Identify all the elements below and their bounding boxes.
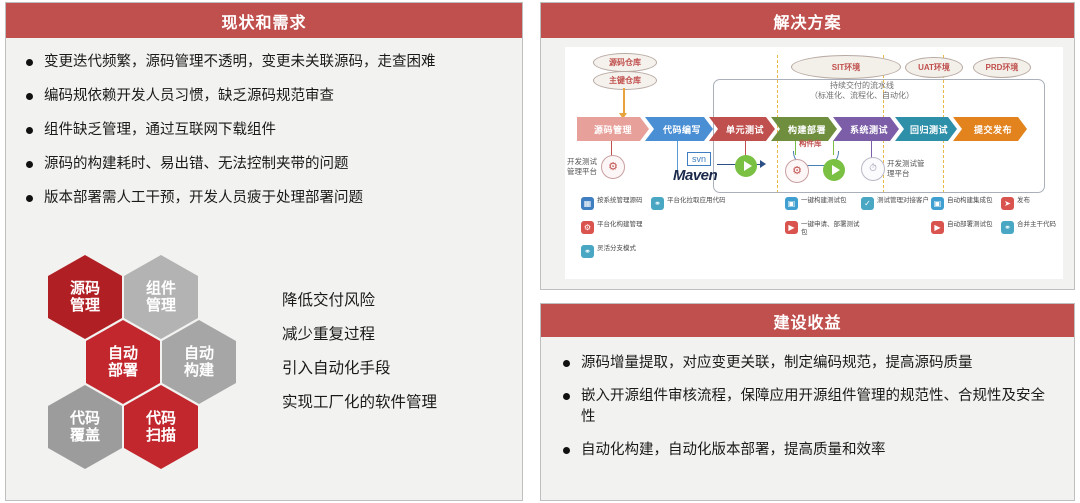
legend-item-merge-trunk-code: ⚭ 合并主干代码 xyxy=(1001,221,1056,234)
branch-icon: ⚭ xyxy=(651,197,664,210)
hexagon-label-line2: 管理 xyxy=(146,297,176,314)
dev-test-platform-label-left: 开发测试管理平台 xyxy=(567,157,601,177)
send-icon: ➤ xyxy=(1001,197,1014,210)
legend-label: 平台化拉取应用代码 xyxy=(667,197,726,205)
gauge-icon-system-test: ⏱ xyxy=(861,157,885,181)
stage-build-deploy[interactable]: 构建部署 xyxy=(771,117,837,141)
list-item: 变更迭代频繁，源码管理不透明，变更未关联源码，走查困难 xyxy=(24,52,504,73)
branch-icon: ⚭ xyxy=(581,245,594,258)
legend-label: 按系统管理源码 xyxy=(597,197,643,205)
list-item: 版本部署需人工干预，开发人员疲于处理部署问题 xyxy=(24,188,504,209)
gear-glyph: ⚙ xyxy=(608,162,618,173)
legend-label: 一键构建测试包 xyxy=(801,197,847,205)
hexagon-source-code-management: 源码 管理 xyxy=(48,255,122,339)
value-item: 引入自动化手段 xyxy=(282,356,512,378)
stage-source-code-management[interactable]: 源码管理 xyxy=(577,117,649,141)
continuous-delivery-label-line2: （标准化、流程化、自动化） xyxy=(777,91,947,101)
list-item: 嵌入开源组件审核流程，保障应用开源组件管理的规范性、合规性及安全性 xyxy=(561,386,1052,428)
list-item: 源码增量提取，对应变更关联，制定编码规范，提高源码质量 xyxy=(561,353,1052,374)
maven-arrowhead xyxy=(760,160,766,168)
legend-label: 自动构建集成包 xyxy=(947,197,993,205)
gear-icon-dev-test-platform-left: ⚙ xyxy=(601,155,625,179)
panel-solution-title: 解决方案 xyxy=(541,3,1074,38)
legend-label: 测试管理对接客户 xyxy=(877,197,929,205)
cicd-pipeline-diagram: SIT环境 UAT环境 PRD环境 源码仓库 主键仓库 持续交付的流水线 （标准… xyxy=(565,47,1063,279)
env-badge-prd: PRD环境 xyxy=(973,57,1031,78)
panel-benefit-body: 源码增量提取，对应变更关联，制定编码规范，提高源码质量 嵌入开源组件审核流程，保… xyxy=(541,337,1074,461)
play-glyph xyxy=(744,161,752,171)
panel-solution: 解决方案 SIT环境 UAT环境 PRD环境 源码仓库 主键仓库 持续交付的流水… xyxy=(540,2,1075,290)
stage-system-test[interactable]: 系统测试 xyxy=(833,117,899,141)
play-icon-build xyxy=(823,159,845,181)
panel-benefit: 建设收益 源码增量提取，对应变更关联，制定编码规范，提高源码质量 嵌入开源组件审… xyxy=(540,303,1075,501)
hexagon-code-coverage: 代码 覆盖 xyxy=(48,385,122,469)
legend-label: 自动部署测试包 xyxy=(947,221,993,229)
list-item: 组件缺乏管理，通过互联网下载组件 xyxy=(24,120,504,141)
check-icon: ✓ xyxy=(861,197,874,210)
repo-badge-key: 主键仓库 xyxy=(593,71,657,90)
legend-item-platform-pull-app-code: ⚭ 平台化拉取应用代码 xyxy=(651,197,726,210)
value-item: 减少重复过程 xyxy=(282,322,512,344)
hexagon-label-line2: 覆盖 xyxy=(70,427,100,444)
deploy-icon: ▶ xyxy=(931,221,944,234)
panel-solution-body: SIT环境 UAT环境 PRD环境 源码仓库 主键仓库 持续交付的流水线 （标准… xyxy=(541,38,1074,279)
grid-icon: ▦ xyxy=(581,197,594,210)
pipeline-stage-chain: 源码管理 代码编写 单元测试 构建部署 系统测试 回归测试 提交发布 xyxy=(577,117,1023,141)
list-item: 编码规依赖开发人员习惯，缺乏源码规范审查 xyxy=(24,86,504,107)
merge-icon: ⚭ xyxy=(1001,221,1014,234)
legend-item-auto-deploy-test-package: ▶ 自动部署测试包 xyxy=(931,221,993,234)
hexagon-label-line1: 自动 xyxy=(108,345,138,362)
legend-label: 合并主干代码 xyxy=(1017,221,1056,229)
legend-label: 发布 xyxy=(1017,197,1030,205)
legend-item-flexible-branching: ⚭ 灵活分支模式 xyxy=(581,245,636,258)
play-glyph xyxy=(832,165,840,175)
hexagon-label-line2: 管理 xyxy=(70,297,100,314)
panel-benefit-title: 建设收益 xyxy=(541,304,1074,337)
hexagon-cluster-diagram: 源码 管理 组件 管理 自动 部署 自动 构建 代码 覆盖 代码 扫描 xyxy=(36,249,266,484)
hexagon-label-line1: 代码 xyxy=(146,410,176,427)
continuous-delivery-label-line1: 持续交付的流水线 xyxy=(777,81,947,91)
env-badge-uat: UAT环境 xyxy=(905,57,963,78)
value-item: 降低交付风险 xyxy=(282,288,512,310)
repo-connector-line xyxy=(623,88,625,116)
legend-item-release: ➤ 发布 xyxy=(1001,197,1030,210)
deploy-icon: ▶ xyxy=(785,221,798,234)
stage-code-writing[interactable]: 代码编写 xyxy=(645,117,713,141)
gear-icon-build: ⚙ xyxy=(785,159,809,183)
legend-label: 灵活分支模式 xyxy=(597,245,636,253)
package-icon: ▣ xyxy=(931,197,944,210)
panel-current-status-title: 现状和需求 xyxy=(6,3,522,38)
gear-glyph: ⚙ xyxy=(792,166,802,177)
legend-label: 平台化构建管理 xyxy=(597,221,643,229)
hexagon-auto-deploy: 自动 部署 xyxy=(86,320,160,404)
legend-label: 一键申请、部署测试包 xyxy=(801,221,863,238)
legend-item-one-click-build-test-package: ▣ 一键构建测试包 xyxy=(785,197,847,210)
hexagon-component-management: 组件 管理 xyxy=(124,255,198,339)
build-repo-label: 构件库 xyxy=(799,139,822,149)
hexagon-code-scan: 代码 扫描 xyxy=(124,385,198,469)
stage-unit-test[interactable]: 单元测试 xyxy=(709,117,775,141)
dev-test-platform-label-mid: 开发测试管理平台 xyxy=(887,159,927,179)
current-status-bullet-list: 变更迭代频繁，源码管理不透明，变更未关联源码，走查困难 编码规依赖开发人员习惯，… xyxy=(24,52,504,209)
legend-item-manage-source-by-system: ▦ 按系统管理源码 xyxy=(581,197,643,210)
legend-item-platform-build-management: ⚙ 平台化构建管理 xyxy=(581,221,643,234)
gauge-glyph: ⏱ xyxy=(869,164,877,174)
value-proposition-list: 降低交付风险 减少重复过程 引入自动化手段 实现工厂化的软件管理 xyxy=(282,288,512,424)
list-item: 源码的构建耗时、易出错、无法控制夹带的问题 xyxy=(24,154,504,175)
stage-submit-release[interactable]: 提交发布 xyxy=(953,117,1027,141)
env-badge-sit: SIT环境 xyxy=(791,55,901,79)
stage-regression-test[interactable]: 回归测试 xyxy=(895,117,957,141)
hexagon-label-line1: 代码 xyxy=(70,410,100,427)
hexagon-label-line1: 组件 xyxy=(146,280,176,297)
play-icon-unit-test xyxy=(735,155,757,177)
hexagon-label-line2: 部署 xyxy=(108,362,138,379)
svn-tool-badge: svn xyxy=(687,152,711,166)
legend-item-auto-build-integration-package: ▣ 自动构建集成包 xyxy=(931,197,993,210)
repo-badge-source: 源码仓库 xyxy=(593,53,657,72)
list-item: 自动化构建，自动化版本部署，提高质量和效率 xyxy=(561,440,1052,461)
hexagon-label-line1: 自动 xyxy=(184,345,214,362)
hexagon-label-line1: 源码 xyxy=(70,280,100,297)
benefit-bullet-list: 源码增量提取，对应变更关联，制定编码规范，提高源码质量 嵌入开源组件审核流程，保… xyxy=(561,353,1052,461)
hexagon-label-line2: 扫描 xyxy=(146,427,176,444)
build-icon: ⚙ xyxy=(581,221,594,234)
legend-item-test-management-customer: ✓ 测试管理对接客户 xyxy=(861,197,929,210)
package-icon: ▣ xyxy=(785,197,798,210)
hexagon-auto-build: 自动 构建 xyxy=(162,320,236,404)
panel-current-status: 现状和需求 变更迭代频繁，源码管理不透明，变更未关联源码，走查困难 编码规依赖开… xyxy=(5,2,523,501)
hexagon-label-line2: 构建 xyxy=(184,362,214,379)
continuous-delivery-label: 持续交付的流水线 （标准化、流程化、自动化） xyxy=(777,81,947,101)
maven-tool-label: Maven xyxy=(673,167,717,184)
value-item: 实现工厂化的软件管理 xyxy=(282,390,512,412)
legend-item-one-click-apply-deploy: ▶ 一键申请、部署测试包 xyxy=(785,221,863,238)
panel-current-status-body: 变更迭代频繁，源码管理不透明，变更未关联源码，走查困难 编码规依赖开发人员习惯，… xyxy=(6,38,522,209)
